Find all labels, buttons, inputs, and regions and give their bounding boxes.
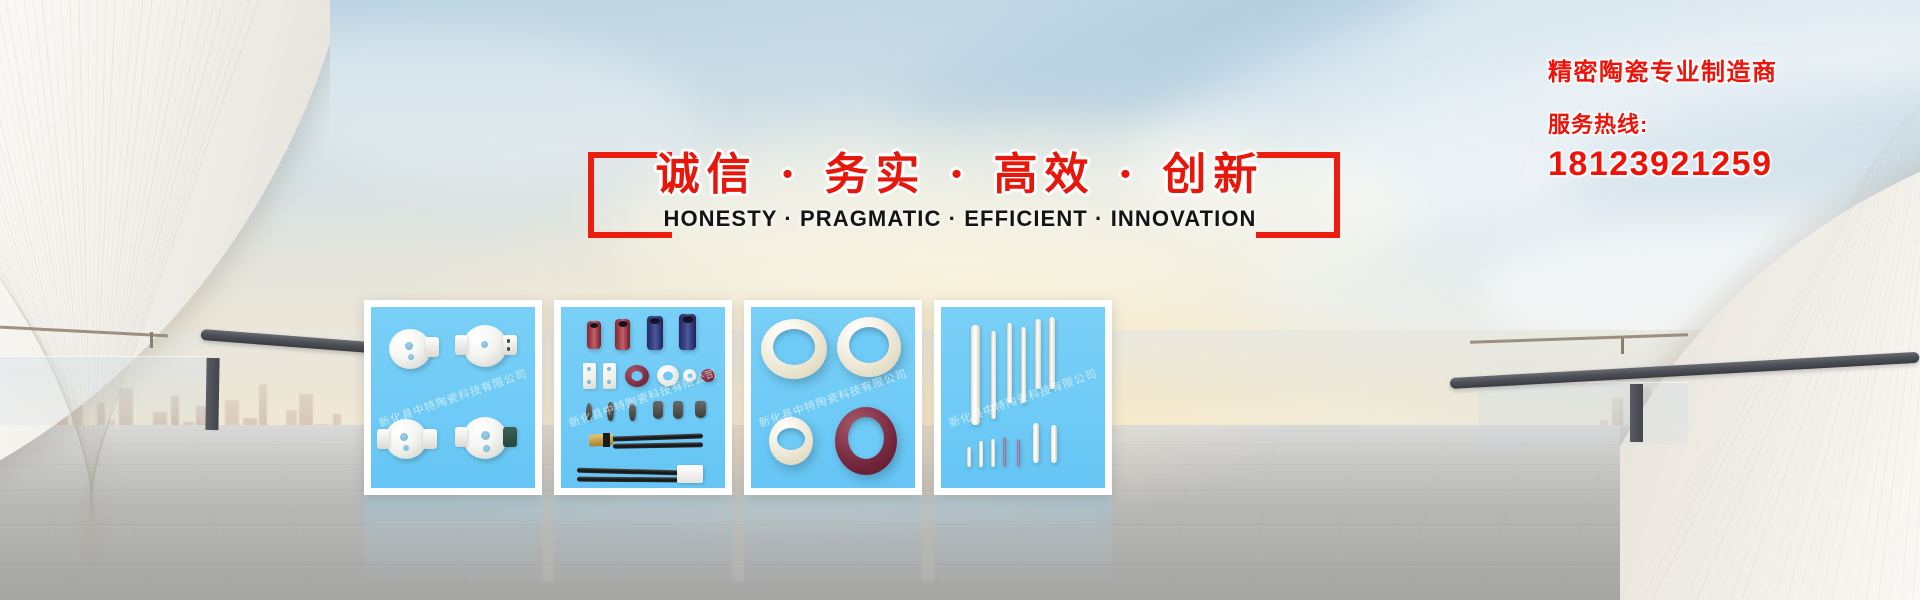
canopy-shell-left (0, 0, 330, 550)
handrail-bracket-right (1621, 338, 1624, 354)
product-panel-ceramic-rods[interactable]: 新化县中特陶瓷科技有限公司 (934, 300, 1112, 495)
product-panel-ceramic-lamp-holders[interactable]: 新化县中特陶瓷科技有限公司 (364, 300, 542, 495)
hotline-number[interactable]: 18123921259 (1548, 145, 1908, 184)
product-panel-ceramic-sleeves[interactable]: 新化县中特陶瓷科技有限公司 (554, 300, 732, 495)
handrail-bracket-left (150, 332, 153, 348)
hero-banner: 诚信 · 务实 · 高效 · 创新 HONESTY · PRAGMATIC · … (0, 0, 1920, 600)
slogan-english: HONESTY · PRAGMATIC · EFFICIENT · INNOVA… (560, 206, 1360, 232)
glass-balustrade-right (1478, 382, 1688, 445)
headline-block: 诚信 · 务实 · 高效 · 创新 HONESTY · PRAGMATIC · … (560, 140, 1360, 250)
company-tagline: 精密陶瓷专业制造商 (1548, 52, 1908, 87)
product-panel-ceramic-rings[interactable]: 新化县中特陶瓷科技有限公司 (744, 300, 922, 495)
slogan-chinese: 诚信 · 务实 · 高效 · 创新 (560, 138, 1360, 202)
railing-post-right (1630, 384, 1643, 442)
architecture-left-wing (0, 0, 330, 600)
hotline-label: 服务热线: (1548, 107, 1908, 139)
glass-balustrade-left (0, 356, 210, 425)
contact-block: 精密陶瓷专业制造商 服务热线: 18123921259 (1548, 52, 1908, 184)
railing-post-left (205, 358, 219, 430)
